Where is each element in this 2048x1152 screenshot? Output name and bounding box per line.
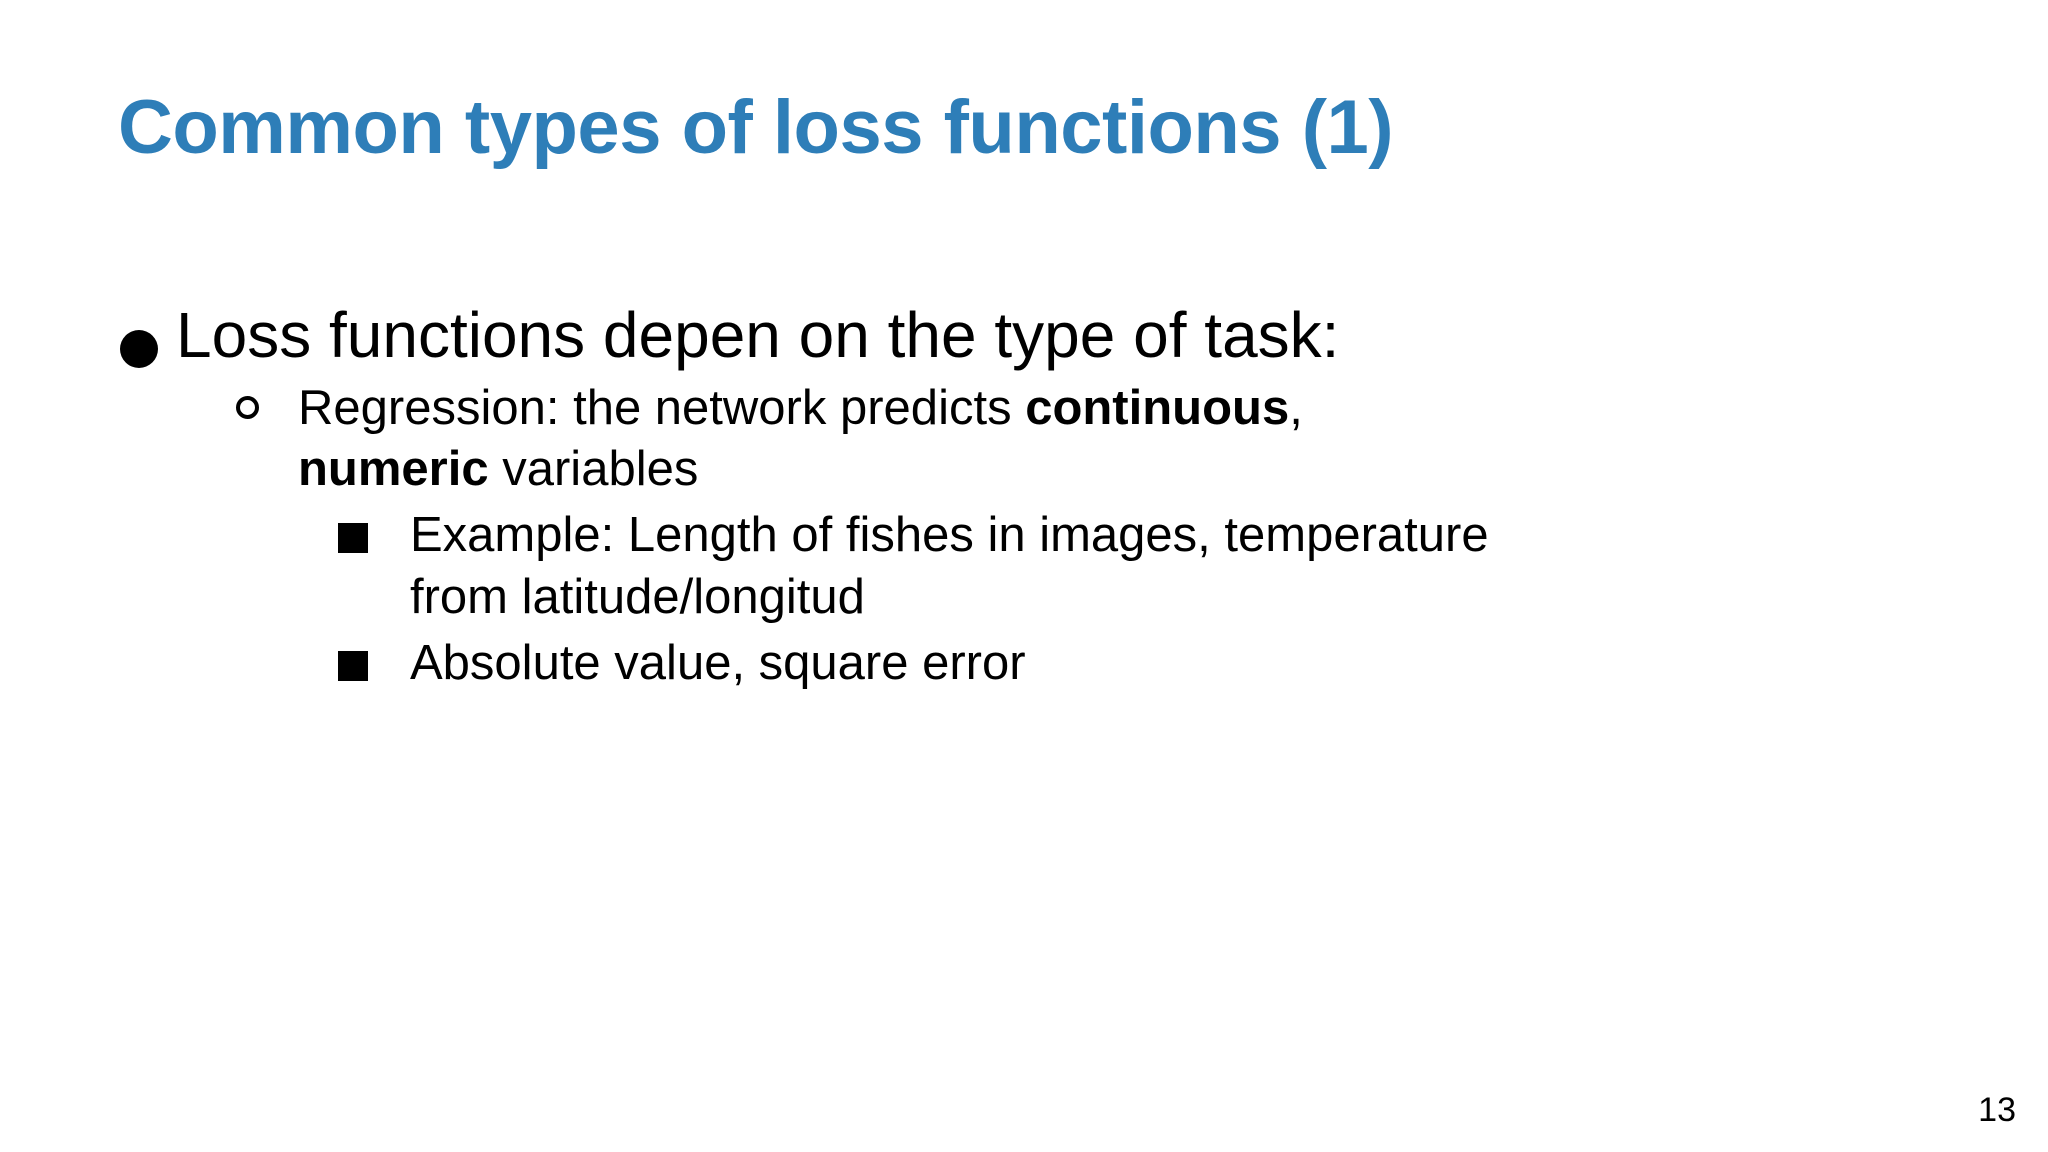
bullet-item-level-3-example: Example: Length of fishes in images, tem… bbox=[0, 505, 2048, 628]
bullet-text-level-2: Regression: the network predicts continu… bbox=[298, 378, 1478, 501]
slide: Common types of loss functions (1) Loss … bbox=[0, 0, 2048, 1152]
page-number: 13 bbox=[1978, 1091, 2016, 1130]
page-title: Common types of loss functions (1) bbox=[118, 88, 1948, 168]
filled-square-bullet-icon bbox=[338, 505, 410, 553]
bullet-text-level-3-example: Example: Length of fishes in images, tem… bbox=[410, 505, 1530, 628]
hollow-circle-bullet-icon bbox=[236, 378, 298, 419]
bullet-item-level-3-metrics: Absolute value, square error bbox=[0, 633, 2048, 695]
bullet-item-level-2: Regression: the network predicts continu… bbox=[0, 378, 2048, 501]
slide-body: Loss functions depen on the type of task… bbox=[0, 300, 2048, 694]
filled-square-bullet-icon bbox=[338, 633, 410, 681]
filled-circle-bullet-icon bbox=[120, 300, 176, 368]
bullet-text-level-1: Loss functions depen on the type of task… bbox=[176, 300, 1339, 372]
bullet-item-level-1: Loss functions depen on the type of task… bbox=[0, 300, 2048, 372]
bullet-text-level-3-metrics: Absolute value, square error bbox=[410, 633, 1026, 695]
